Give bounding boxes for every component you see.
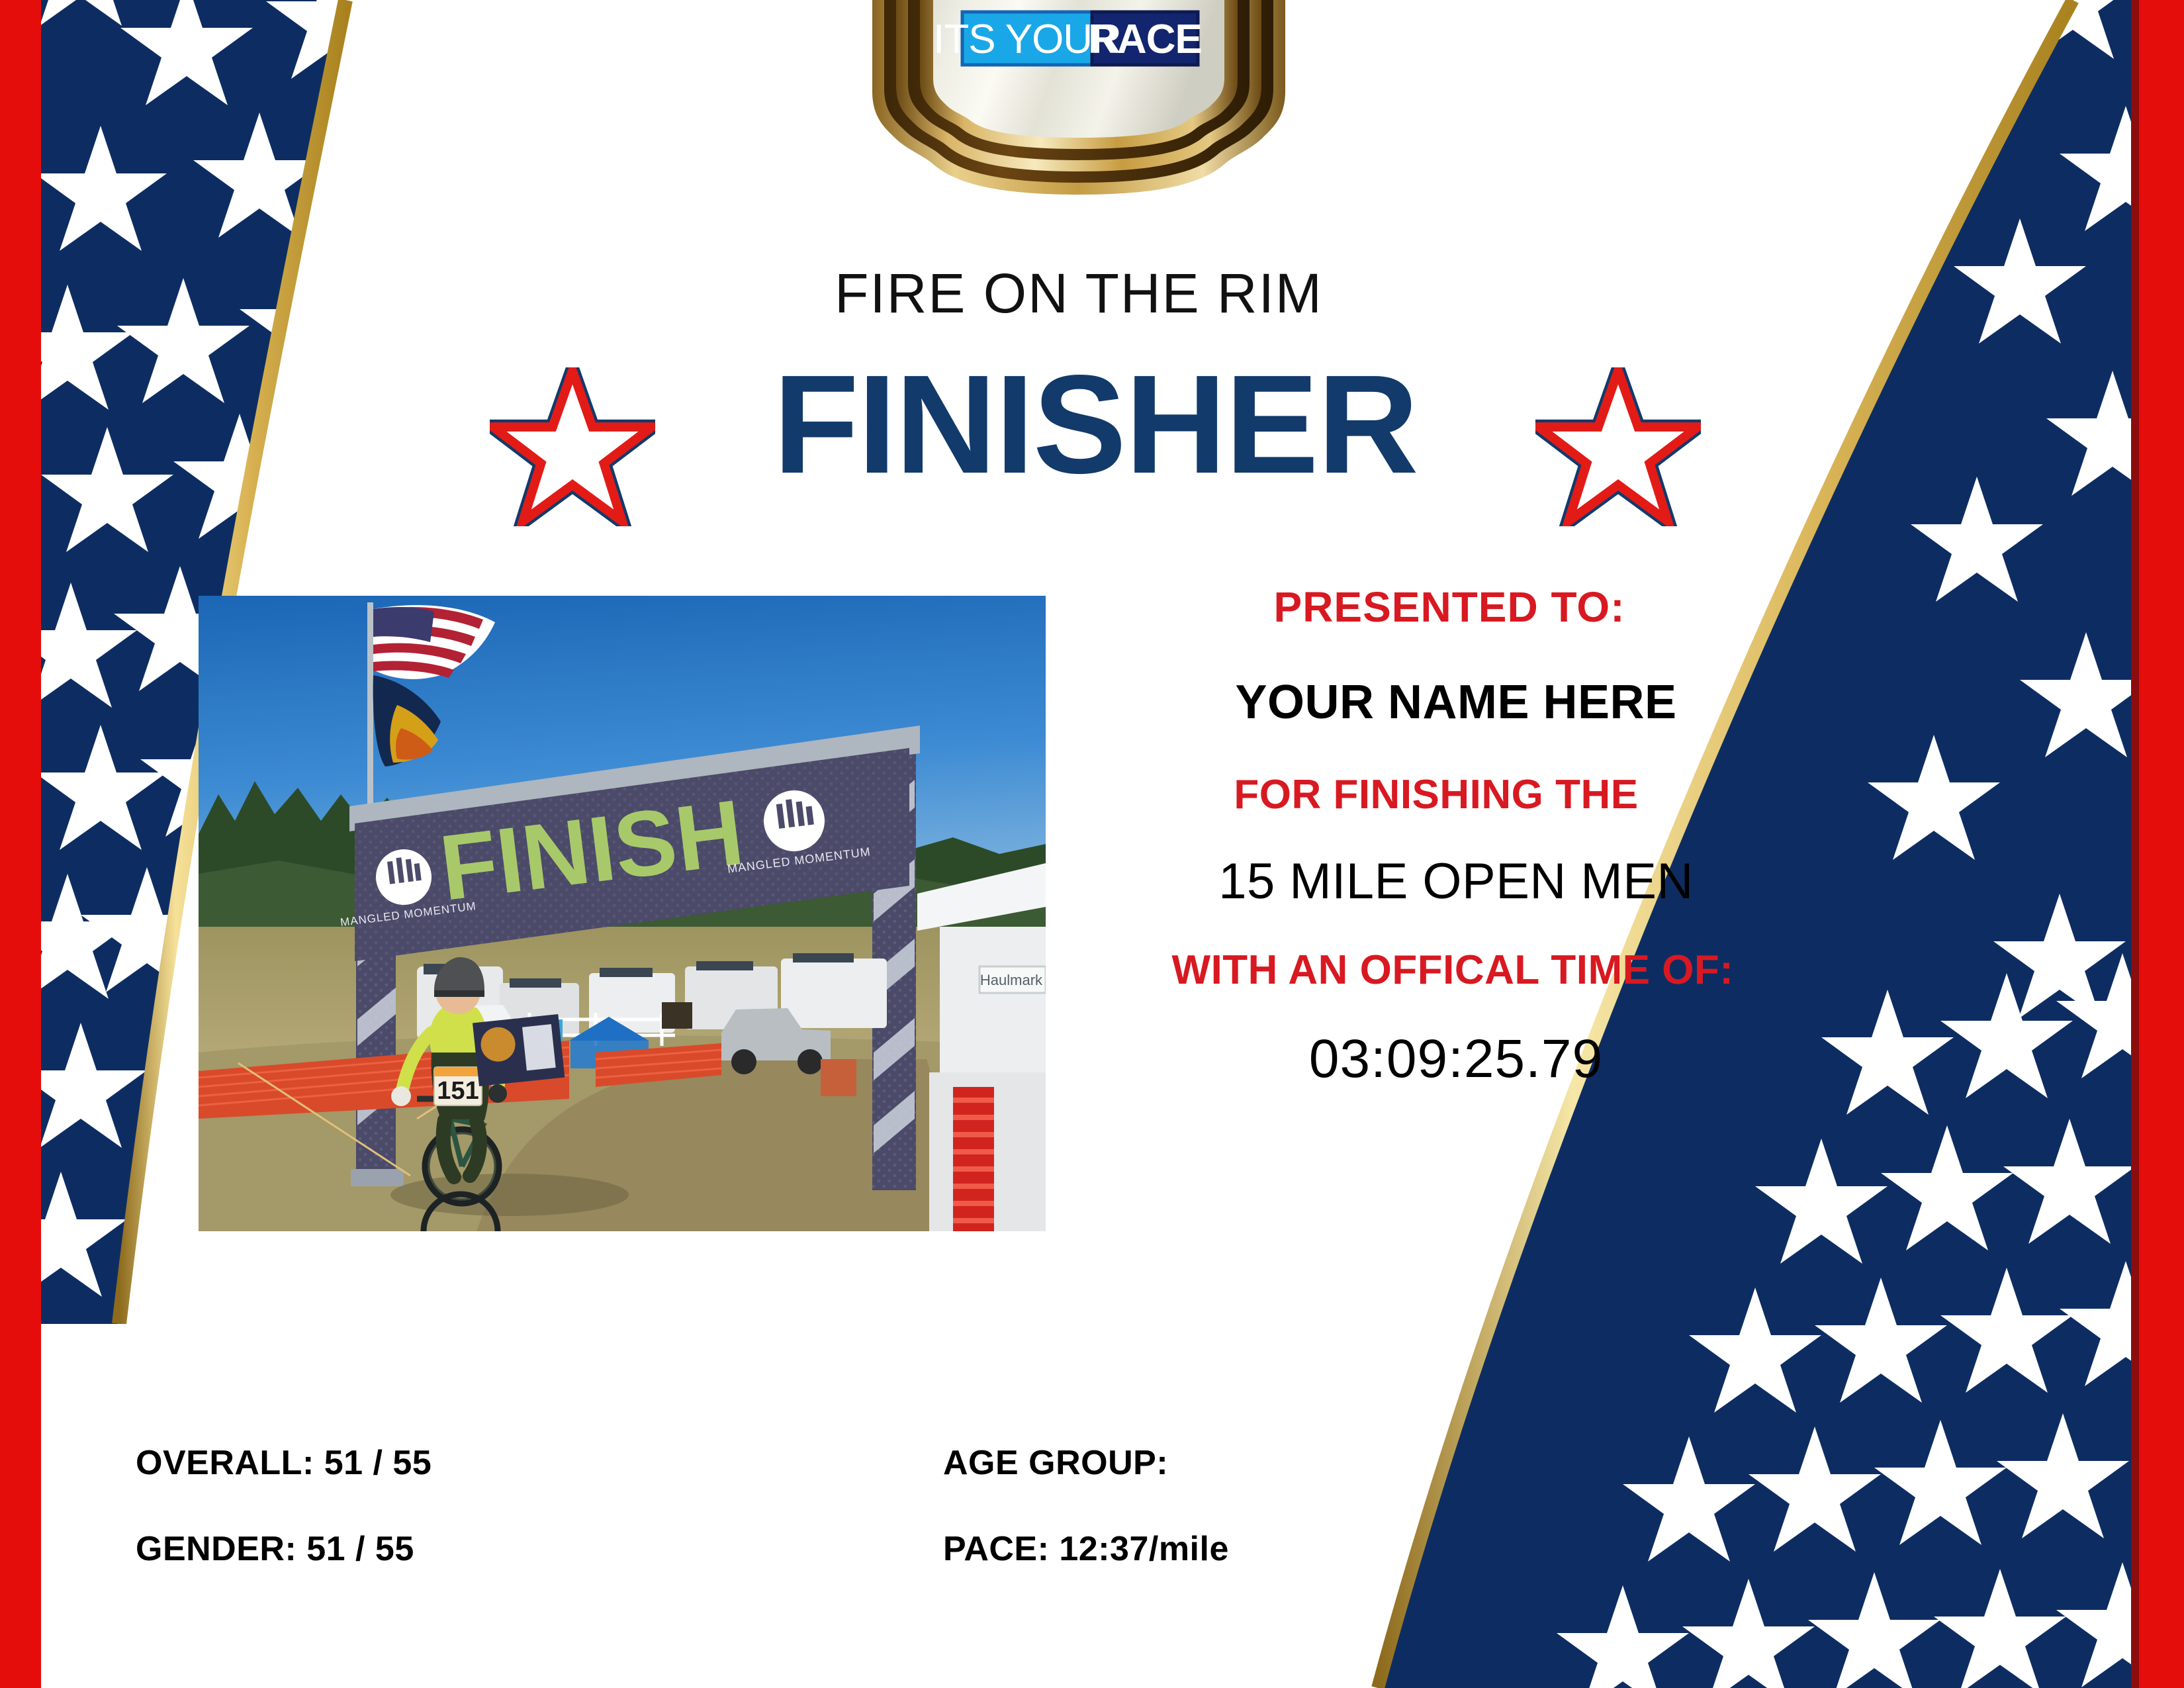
right-flag-svg bbox=[1358, 0, 2139, 1688]
stat-pace: PACE: 12:37/mile bbox=[943, 1529, 1229, 1569]
certificate-page: ITS YOUR RACE FIRE ON THE RIM FINISHER bbox=[0, 0, 2184, 1688]
logo-text-race: RACE bbox=[1088, 17, 1202, 62]
official-time-label: WITH AN OFFICAL TIME OF: bbox=[1172, 947, 1734, 994]
right-red-stripe bbox=[2139, 0, 2184, 1688]
presented-to-label: PRESENTED TO: bbox=[1274, 583, 1625, 632]
its-your-race-logo[interactable]: ITS YOUR RACE bbox=[867, 0, 1291, 213]
bib-number-text: 151 bbox=[437, 1077, 478, 1105]
badge-shield-icon: ITS YOUR RACE bbox=[867, 0, 1291, 213]
star-right-icon bbox=[1535, 367, 1701, 526]
award-title-heading: FINISHER bbox=[773, 354, 1417, 494]
right-star-field bbox=[1358, 0, 2139, 1688]
finish-line-photo-svg: FINISH MANGLED MOMENTUM MA bbox=[199, 596, 1046, 1231]
stat-gender: GENDER: 51 / 55 bbox=[136, 1529, 414, 1569]
event-category: 15 MILE OPEN MEN bbox=[1218, 853, 1694, 910]
trailer-brand-text: Haulmark bbox=[980, 972, 1043, 988]
stat-age-group: AGE GROUP: bbox=[943, 1443, 1168, 1483]
for-finishing-label: FOR FINISHING THE bbox=[1234, 771, 1638, 818]
left-red-stripe bbox=[0, 0, 41, 1688]
finish-line-photo: FINISH MANGLED MOMENTUM MA bbox=[199, 596, 1046, 1231]
finish-time-value: 03:09:25.79 bbox=[1309, 1028, 1603, 1090]
star-left-icon bbox=[490, 367, 655, 526]
stat-overall: OVERALL: 51 / 55 bbox=[136, 1443, 432, 1483]
recipient-name: YOUR NAME HERE bbox=[1235, 675, 1676, 729]
event-name-heading: FIRE ON THE RIM bbox=[835, 261, 1323, 326]
